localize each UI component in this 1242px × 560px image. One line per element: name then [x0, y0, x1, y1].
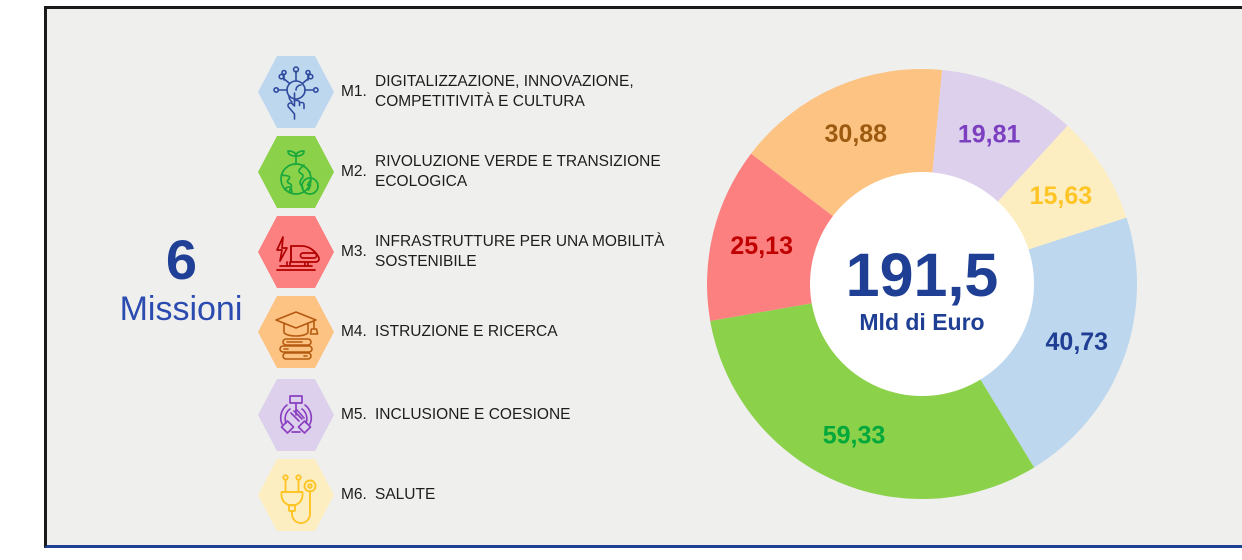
- legend-item-m2[interactable]: M2. RIVOLUZIONE VERDE E TRANSIZIONE ECOL…: [255, 132, 675, 212]
- legend-text-m2: M2. RIVOLUZIONE VERDE E TRANSIZIONE ECOL…: [341, 132, 671, 212]
- donut-slice-label: 15,63: [1030, 182, 1093, 210]
- donut-slice-label: 40,73: [1046, 328, 1109, 356]
- legend-item-m1[interactable]: M1. DIGITALIZZAZIONE, INNOVAZIONE, COMPE…: [255, 52, 675, 132]
- donut-center-total: 191,5: [846, 241, 999, 309]
- hexagon-badge-m5: [258, 377, 334, 453]
- missioni-label: Missioni: [96, 292, 266, 326]
- legend-name-m3: INFRASTRUTTURE PER UNA MOBILITÀ SOSTENIB…: [375, 232, 671, 272]
- donut-slice-label: 25,13: [730, 232, 793, 260]
- legend-name-m2: RIVOLUZIONE VERDE E TRANSIZIONE ECOLOGIC…: [375, 152, 671, 192]
- donut-slice-label: 19,81: [958, 120, 1021, 148]
- legend-text-m4: M4. ISTRUZIONE E RICERCA: [341, 292, 671, 372]
- legend-code-m4: M4.: [341, 323, 375, 341]
- legend-item-m5[interactable]: M5. INCLUSIONE E COESIONE: [255, 375, 675, 455]
- legend-name-m5: INCLUSIONE E COESIONE: [375, 405, 571, 425]
- donut-slice-label: 59,33: [823, 421, 886, 449]
- legend-text-m1: M1. DIGITALIZZAZIONE, INNOVAZIONE, COMPE…: [341, 52, 671, 132]
- missions-donut-chart: 191,5 Mld di Euro 40,7359,3325,1330,8819…: [672, 34, 1172, 534]
- hexagon-badge-m1: [258, 54, 334, 130]
- legend-item-m4[interactable]: M4. ISTRUZIONE E RICERCA: [255, 292, 675, 372]
- legend-code-m3: M3.: [341, 243, 375, 261]
- hexagon-badge-m4: [258, 294, 334, 370]
- legend-text-m6: M6. SALUTE: [341, 455, 671, 535]
- legend-name-m4: ISTRUZIONE E RICERCA: [375, 322, 558, 342]
- legend-name-m6: SALUTE: [375, 485, 435, 505]
- hexagon-badge-m3: [258, 214, 334, 290]
- donut-slice-label: 30,88: [825, 120, 888, 148]
- hexagon-badge-m2: [258, 134, 334, 210]
- legend-text-m5: M5. INCLUSIONE E COESIONE: [341, 375, 671, 455]
- legend-code-m5: M5.: [341, 406, 375, 424]
- missioni-count: 6: [96, 232, 266, 288]
- legend-item-m6[interactable]: M6. SALUTE: [255, 455, 675, 535]
- legend-text-m3: M3. INFRASTRUTTURE PER UNA MOBILITÀ SOST…: [341, 212, 671, 292]
- donut-center-unit: Mld di Euro: [859, 309, 984, 335]
- legend-name-m1: DIGITALIZZAZIONE, INNOVAZIONE, COMPETITI…: [375, 72, 671, 112]
- legend-code-m1: M1.: [341, 83, 375, 101]
- legend-item-m3[interactable]: M3. INFRASTRUTTURE PER UNA MOBILITÀ SOST…: [255, 212, 675, 292]
- legend-code-m2: M2.: [341, 163, 375, 181]
- infographic-slide: 6 Missioni: [0, 0, 1242, 560]
- missioni-summary: 6 Missioni: [96, 232, 266, 326]
- legend-code-m6: M6.: [341, 486, 375, 504]
- hexagon-badge-m6: [258, 457, 334, 533]
